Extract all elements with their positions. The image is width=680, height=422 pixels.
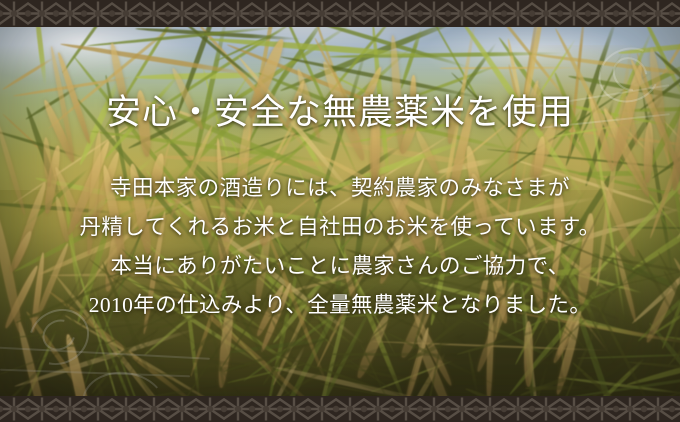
body-line: 寺田本家の酒造りには、契約農家のみなさまが: [0, 169, 680, 208]
asanoha-border-bottom: [0, 396, 680, 422]
body-line: 本当にありがたいことに農家さんのご協力で、: [0, 247, 680, 286]
banner-headline: 安心・安全な無農薬米を使用: [0, 95, 680, 130]
banner-body: 寺田本家の酒造りには、契約農家のみなさまが 丹精してくれるお米と自社田のお米を使…: [0, 169, 680, 325]
promo-banner: 安心・安全な無農薬米を使用 寺田本家の酒造りには、契約農家のみなさまが 丹精して…: [0, 0, 680, 422]
banner-content: 安心・安全な無農薬米を使用 寺田本家の酒造りには、契約農家のみなさまが 丹精して…: [0, 27, 680, 396]
body-line: 2010年の仕込みより、全量無農薬米となりました。: [0, 286, 680, 325]
body-line: 丹精してくれるお米と自社田のお米を使っています。: [0, 208, 680, 247]
asanoha-border-top: [0, 0, 680, 27]
